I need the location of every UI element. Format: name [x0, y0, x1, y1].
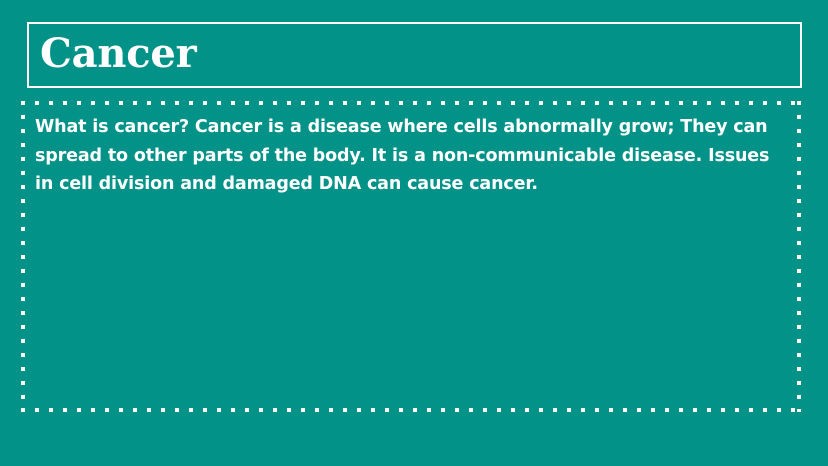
slide-canvas: Cancer What is cancer? Cancer is a disea…: [0, 0, 828, 466]
body-paragraph: What is cancer? Cancer is a disease wher…: [35, 113, 787, 199]
page-title: Cancer: [29, 34, 197, 74]
title-placeholder[interactable]: Cancer: [27, 22, 802, 88]
body-placeholder[interactable]: What is cancer? Cancer is a disease wher…: [21, 101, 801, 412]
